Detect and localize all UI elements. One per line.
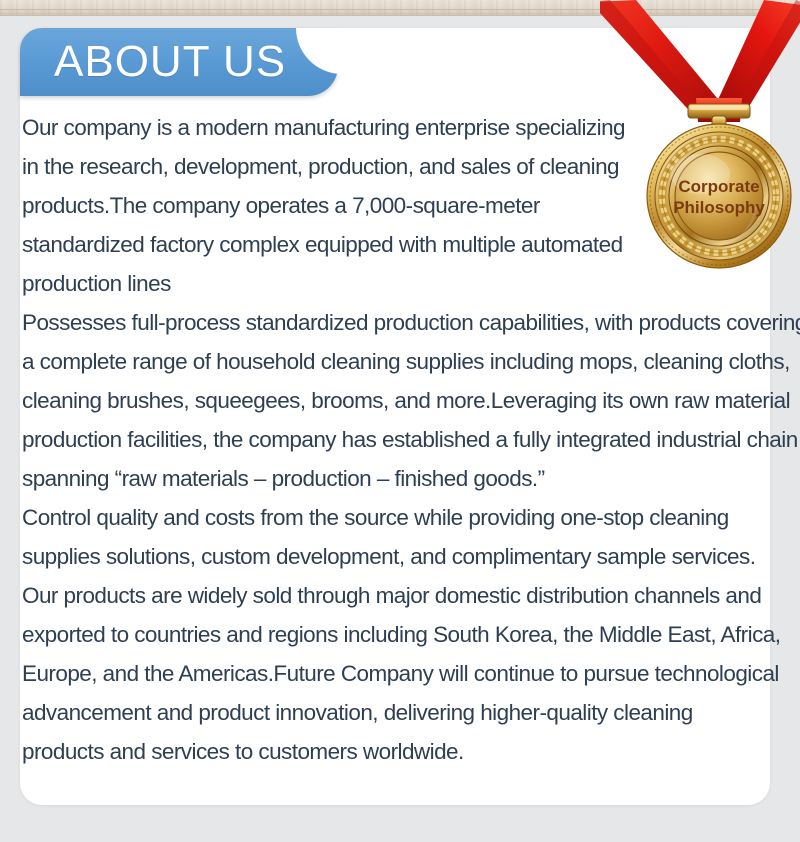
about-us-body-text: Our company is a modern manufacturing en… [22,108,778,771]
body-line: advancement and product innovation, deli… [22,693,778,732]
body-line: standardized factory complex equipped wi… [22,225,778,264]
body-line: products and services to customers world… [22,732,778,771]
body-line: production facilities, the company has e… [22,420,778,459]
body-line: a complete range of household cleaning s… [22,342,778,381]
body-line: in the research, development, production… [22,147,778,186]
wood-texture-strip [0,0,800,16]
body-line: Europe, and the Americas.Future Company … [22,654,778,693]
body-line: Our company is a modern manufacturing en… [22,108,778,147]
page-title: ABOUT US [54,34,286,90]
body-line: Control quality and costs from the sourc… [22,498,778,537]
body-paragraph: Our company is a modern manufacturing en… [22,108,778,303]
body-line: spanning “raw materials – production – f… [22,459,778,498]
body-paragraph: Control quality and costs from the sourc… [22,498,778,771]
body-line: production lines [22,264,778,303]
body-line: Our products are widely sold through maj… [22,576,778,615]
body-line: exported to countries and regions includ… [22,615,778,654]
body-line: Possesses full-process standardized prod… [22,303,778,342]
about-us-page: ABOUT US [0,0,800,842]
body-line: cleaning brushes, squeegees, brooms, and… [22,381,778,420]
body-line: supplies solutions, custom development, … [22,537,778,576]
body-line: products.The company operates a 7,000-sq… [22,186,778,225]
body-paragraph: Possesses full-process standardized prod… [22,303,778,498]
